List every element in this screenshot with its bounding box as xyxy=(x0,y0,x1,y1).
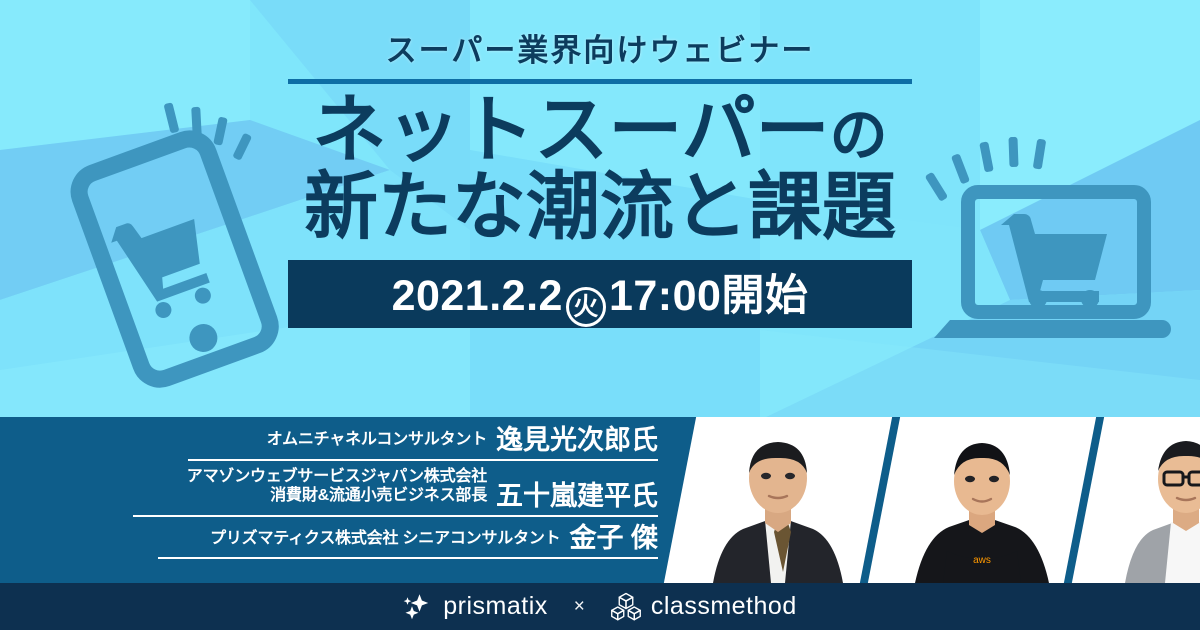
speaker-role-3: プリズマティクス株式会社 シニアコンサルタント xyxy=(210,530,560,553)
speaker-role-2-line2: 消費財&流通小売ビジネス部長 xyxy=(187,487,487,506)
speaker-photos: aws xyxy=(658,417,1200,583)
speaker-name-3: 金子 傑 xyxy=(569,524,658,552)
speaker-role-3-line1: プリズマティクス株式会社 シニアコンサルタント xyxy=(210,530,560,549)
speakers-band: オムニチャネルコンサルタント 逸見光次郎氏 アマゾンウェブサービスジャパン株式会… xyxy=(0,417,1200,583)
title-line1-suffix: の xyxy=(830,103,888,168)
date-bar: 2021.2.2火17:00開始 xyxy=(288,260,912,328)
speaker-entry-3: プリズマティクス株式会社 シニアコンサルタント 金子 傑 xyxy=(158,524,658,559)
classmethod-logo-text: classmethod xyxy=(651,594,797,619)
speaker-name-2: 五十嵐建平氏 xyxy=(496,482,658,510)
date-suffix: 17:00開始 xyxy=(609,272,808,320)
speaker-entry-2: アマゾンウェブサービスジャパン株式会社 消費財&流通小売ビジネス部長 五十嵐建平… xyxy=(133,468,658,517)
speaker-underline-2 xyxy=(133,515,658,517)
speaker-role-1: オムニチャネルコンサルタント xyxy=(267,431,487,454)
date-prefix: 2021.2.2 xyxy=(392,272,563,320)
classmethod-cubes-icon xyxy=(611,592,641,622)
classmethod-logo: classmethod xyxy=(611,592,797,622)
hero-block: スーパー業界向けウェビナー ネットスーパーの 新たな潮流と課題 2021.2.2… xyxy=(0,34,1200,328)
speaker-entry-1: オムニチャネルコンサルタント 逸見光次郎氏 xyxy=(188,426,658,461)
date-text: 2021.2.2火17:00開始 xyxy=(392,261,809,328)
prismatix-sparkle-icon xyxy=(403,592,433,622)
page-title: ネットスーパーの xyxy=(312,91,887,169)
speaker-role-2-line1: アマゾンウェブサービスジャパン株式会社 xyxy=(187,468,487,487)
prismatix-logo: prismatix xyxy=(403,592,548,622)
speaker-names-list: オムニチャネルコンサルタント 逸見光次郎氏 アマゾンウェブサービスジャパン株式会… xyxy=(0,417,672,583)
weekday-circle-badge: 火 xyxy=(566,287,606,327)
speaker-name-1: 逸見光次郎氏 xyxy=(496,426,658,454)
speaker-role-1-line1: オムニチャネルコンサルタント xyxy=(267,431,487,450)
speaker-underline-3 xyxy=(158,557,658,559)
prismatix-logo-text: prismatix xyxy=(443,594,548,619)
divider-rule xyxy=(288,79,912,84)
title-line1-main: ネットスーパー xyxy=(312,88,829,171)
footer-logos: prismatix × xyxy=(0,583,1200,630)
speaker-underline-1 xyxy=(188,459,658,461)
webinar-banner: スーパー業界向けウェビナー ネットスーパーの 新たな潮流と課題 2021.2.2… xyxy=(0,0,1200,630)
speaker-photo-henmi xyxy=(664,417,892,583)
kicker-text: スーパー業界向けウェビナー xyxy=(386,34,815,68)
page-title-line2: 新たな潮流と課題 xyxy=(304,168,896,246)
speaker-role-2: アマゾンウェブサービスジャパン株式会社 消費財&流通小売ビジネス部長 xyxy=(187,468,487,510)
svg-text:aws: aws xyxy=(973,555,991,566)
speaker-photo-igarashi: aws xyxy=(868,417,1096,583)
logo-separator: × xyxy=(574,597,585,616)
